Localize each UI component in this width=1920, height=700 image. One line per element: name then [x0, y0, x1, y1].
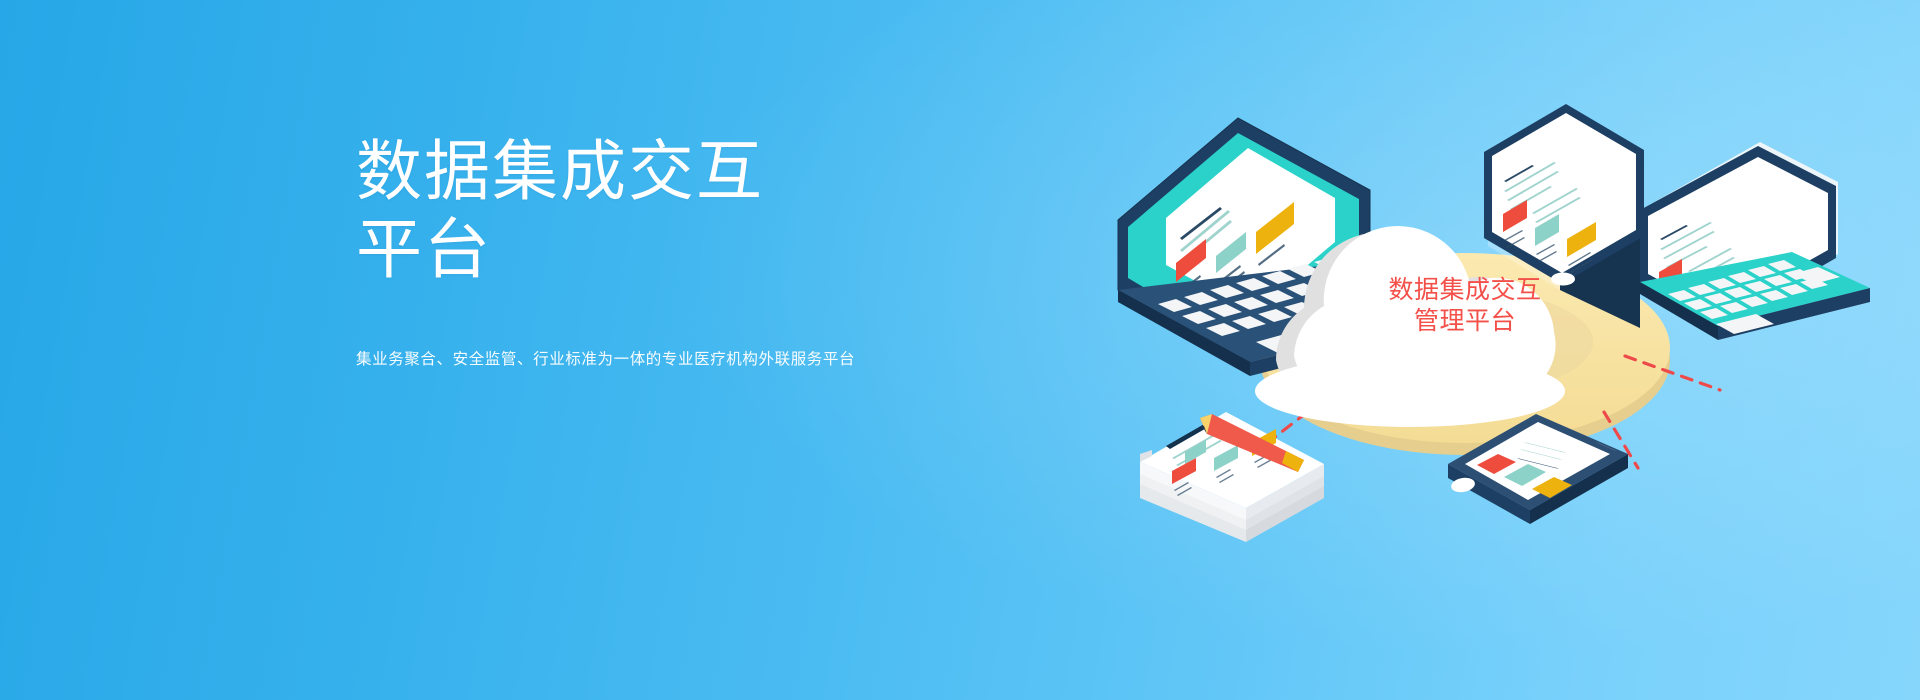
page-title: 数据集成交互 平台 [356, 132, 976, 288]
document-stack-icon [1140, 412, 1324, 542]
page-subtitle: 集业务聚合、安全监管、行业标准为一体的专业医疗机构外联服务平台 [356, 348, 976, 372]
hero-banner: 数据集成交互 平台 集业务聚合、安全监管、行业标准为一体的专业医疗机构外联服务平… [0, 0, 1920, 700]
hero-text-block: 数据集成交互 平台 集业务聚合、安全监管、行业标准为一体的专业医疗机构外联服务平… [356, 132, 976, 372]
hero-illustration: 数据集成交互 管理平台 [1080, 60, 1880, 580]
laptop-right-icon [1640, 142, 1870, 340]
